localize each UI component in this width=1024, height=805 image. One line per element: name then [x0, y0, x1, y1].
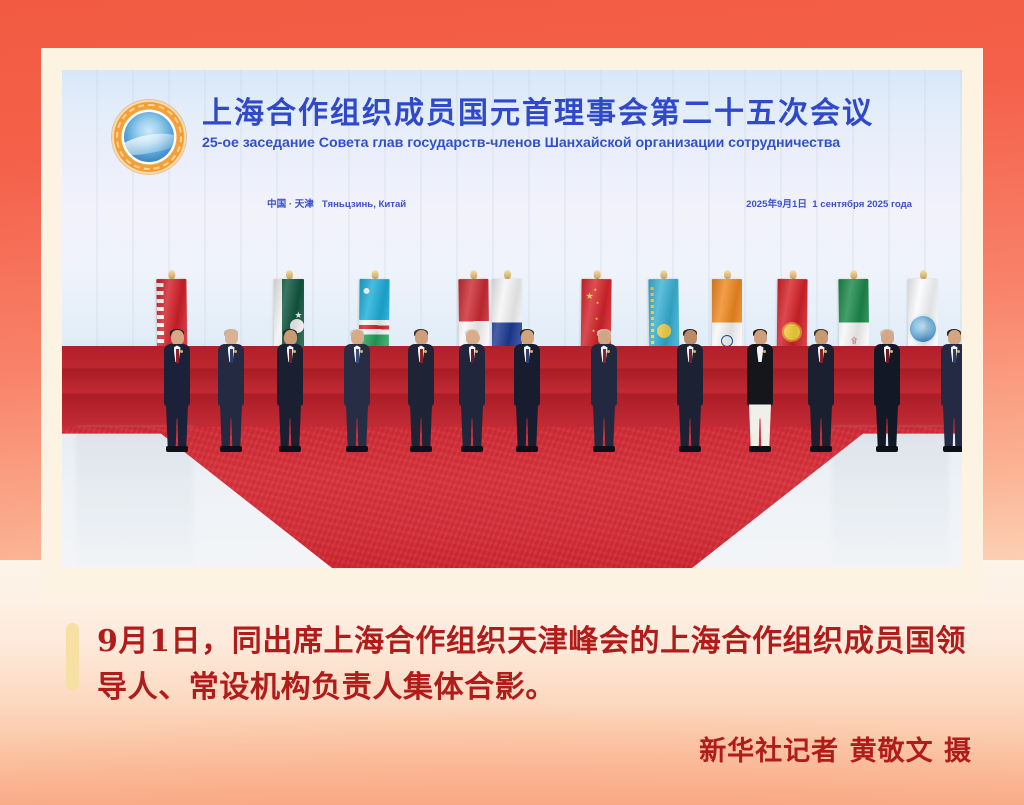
leader-legs [876, 404, 898, 448]
leader-8 [589, 330, 619, 452]
leader-head [171, 330, 184, 345]
news-photo-poster: 上海合作组织成员国元首理事会第二十五次会议 25-ое заседание Со… [0, 0, 1024, 805]
flag-finial [920, 270, 927, 279]
leader-tie [603, 349, 606, 363]
leader-head [225, 330, 238, 345]
leader-shoes [166, 446, 188, 452]
flag-finial [470, 270, 477, 279]
leader-shoes [346, 446, 368, 452]
leader-head [684, 330, 697, 345]
leader-head [284, 330, 297, 345]
leader-legs [279, 404, 301, 448]
leader-7 [512, 330, 542, 452]
leader-head [881, 330, 894, 345]
leader-2 [216, 330, 246, 452]
summit-group-photo: 上海合作组织成员国元首理事会第二十五次会议 25-ое заседание Со… [62, 70, 962, 568]
leader-tie [526, 349, 529, 363]
leader-legs [943, 404, 962, 448]
leader-head [415, 330, 428, 345]
leader-tie [471, 349, 474, 363]
leader-legs [410, 404, 432, 448]
leader-head [948, 330, 961, 345]
leader-legs [593, 404, 615, 448]
flag-finial [168, 270, 175, 279]
leader-shoes [593, 446, 615, 452]
leader-head [754, 330, 767, 345]
leader-shoes [279, 446, 301, 452]
leader-tie [886, 349, 889, 363]
leader-tie [689, 349, 692, 363]
leader-legs [516, 404, 538, 448]
leader-1 [162, 330, 192, 452]
leader-head [521, 330, 534, 345]
leader-tie [953, 349, 956, 363]
leader-shoes [516, 446, 538, 452]
leader-tie [230, 349, 233, 363]
flag-finial [724, 270, 731, 279]
leader-legs [749, 404, 771, 448]
leader-shoes [943, 446, 962, 452]
leader-head [351, 330, 364, 345]
leader-legs [810, 404, 832, 448]
leader-legs [166, 404, 188, 448]
flag-finial [850, 270, 857, 279]
leader-shoes [749, 446, 771, 452]
leader-6 [457, 330, 487, 452]
leader-head [598, 330, 611, 345]
leader-legs [220, 404, 242, 448]
leader-shoes [220, 446, 242, 452]
photo-credit: 新华社记者 黄敬文 摄 [699, 729, 972, 768]
leader-5 [406, 330, 436, 452]
leader-12 [872, 330, 902, 452]
flag-finial [286, 270, 293, 279]
leader-9 [675, 330, 705, 452]
leader-13 [939, 330, 962, 452]
leader-tie [820, 349, 823, 363]
flag-finial [660, 270, 667, 279]
leader-shoes [410, 446, 432, 452]
flag-finial [593, 270, 600, 279]
leader-tie [356, 349, 359, 363]
photo-caption: 9月1日，同出席上海合作组织天津峰会的上海合作组织成员国领导人、常设机构负责人集… [97, 619, 977, 710]
leader-tie [176, 349, 179, 363]
leader-shoes [876, 446, 898, 452]
leader-head [466, 330, 479, 345]
leader-legs [461, 404, 483, 448]
leader-3 [275, 330, 305, 452]
leader-head [815, 330, 828, 345]
leader-4 [342, 330, 372, 452]
leader-legs [346, 404, 368, 448]
leader-legs [679, 404, 701, 448]
flag-finial [504, 270, 511, 279]
leader-tie [289, 349, 292, 363]
leader-10 [745, 330, 775, 452]
leader-shoes [679, 446, 701, 452]
leader-shoes [810, 446, 832, 452]
flag-finial [789, 270, 796, 279]
leader-tie [420, 349, 423, 363]
leader-11 [806, 330, 836, 452]
flag-finial [371, 270, 378, 279]
leader-shoes [461, 446, 483, 452]
caption-accent-bar [66, 623, 79, 691]
